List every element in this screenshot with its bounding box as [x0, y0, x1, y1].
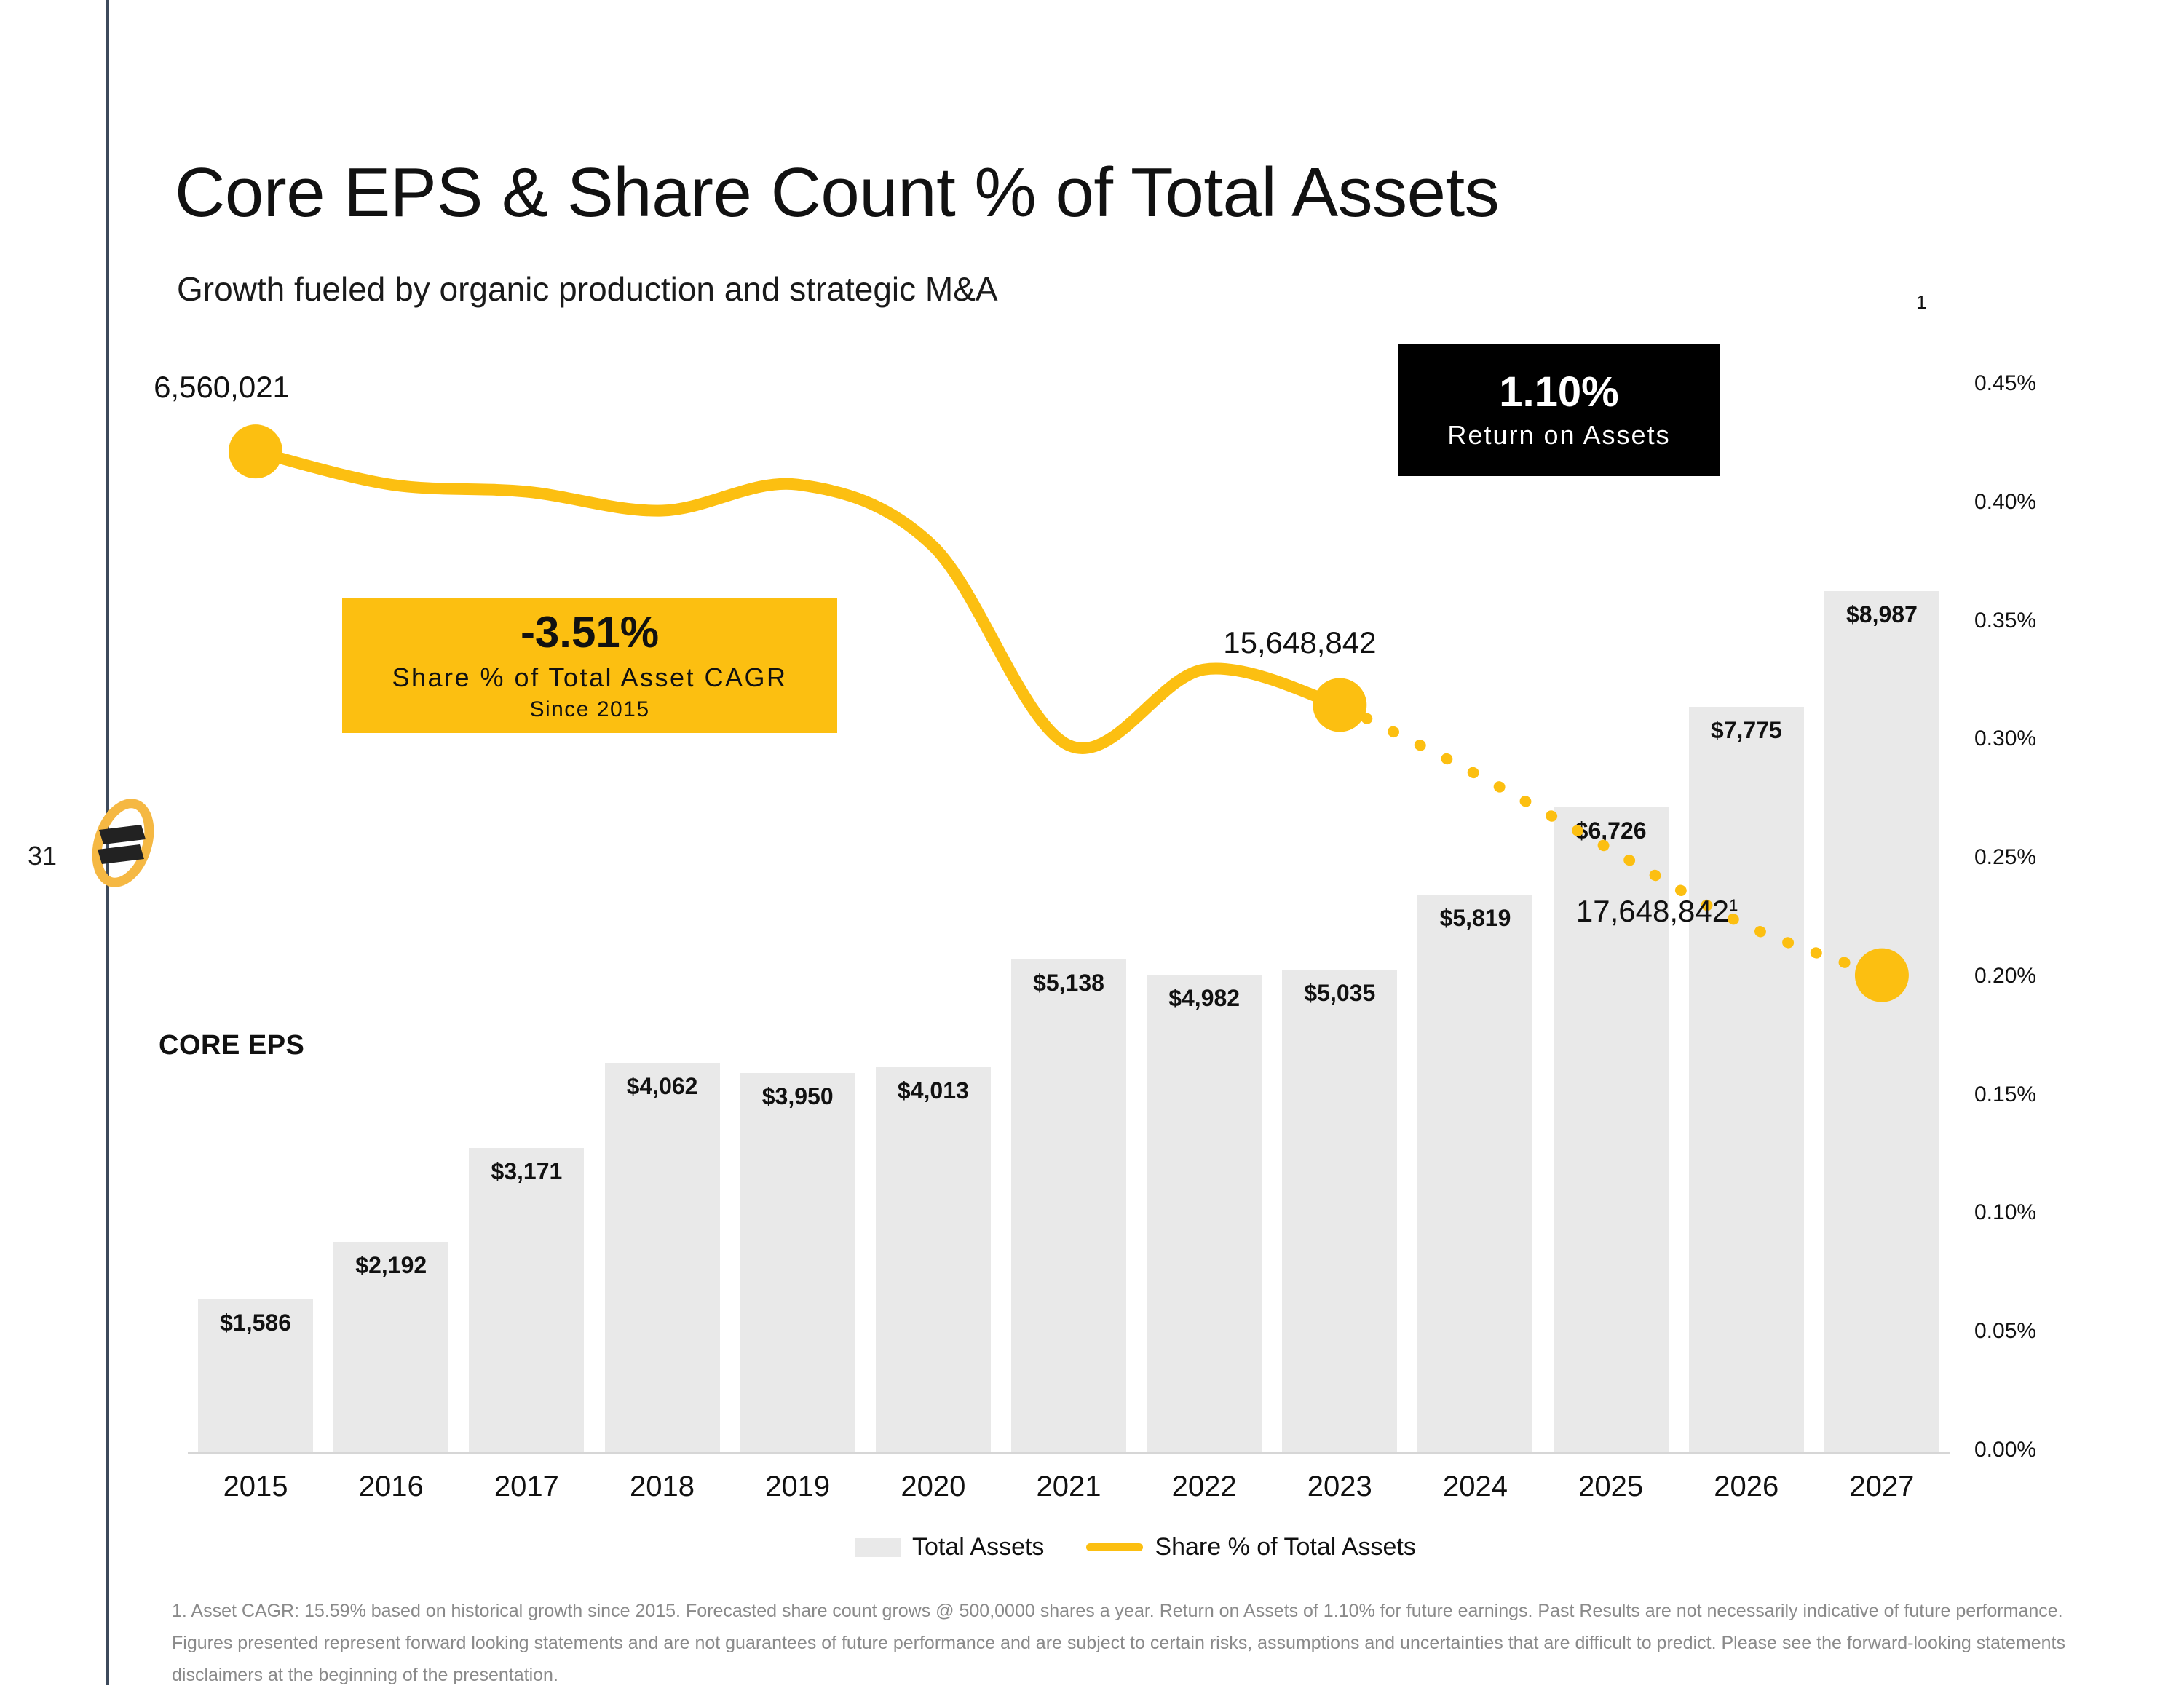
bar-value-label-2023: $5,035 [1259, 980, 1420, 1007]
y-axis-right-tick-0.10%: 0.10% [1974, 1200, 2105, 1225]
bar-value-label-2016: $2,192 [311, 1252, 471, 1279]
y-axis-right-tick-0.20%: 0.20% [1974, 964, 2105, 989]
x-axis-label-2022: 2022 [1131, 1470, 1277, 1503]
bar-2023 [1282, 970, 1397, 1452]
slide-root: 31 Core EPS & Share Count % of Total Ass… [0, 0, 2184, 1685]
bar-value-label-2015: $1,586 [175, 1310, 336, 1336]
x-axis-label-2025: 2025 [1538, 1470, 1684, 1503]
x-axis-label-2026: 2026 [1674, 1470, 1819, 1503]
y-axis-right-tick-0.45%: 0.45% [1974, 371, 2105, 396]
footnote-marker-superscript: 1 [1916, 291, 1926, 314]
roa-label: Return on Assets [1447, 420, 1670, 451]
x-axis-label-2018: 2018 [590, 1470, 735, 1503]
line-point-label-2023: 15,648,842 [1223, 625, 1376, 660]
company-logo-icon [82, 797, 162, 892]
x-axis-label-2016: 2016 [318, 1470, 464, 1503]
x-axis-label-2019: 2019 [725, 1470, 871, 1503]
legend-swatch-icon [855, 1538, 901, 1557]
y-axis-right-tick-0.40%: 0.40% [1974, 490, 2105, 515]
cagr-sublabel: Since 2015 [529, 697, 649, 722]
bar-2024 [1417, 895, 1532, 1452]
bar-2021 [1011, 959, 1126, 1452]
bar-2020 [876, 1067, 991, 1452]
share-line-marker-2015 [229, 424, 282, 478]
page-subtitle: Growth fueled by organic production and … [177, 269, 998, 309]
bar-2017 [469, 1148, 584, 1452]
line-point-label-2015: 6,560,021 [154, 370, 290, 405]
bar-value-label-2024: $5,819 [1395, 905, 1555, 932]
x-axis-label-2024: 2024 [1402, 1470, 1548, 1503]
cagr-label: Share % of Total Asset CAGR [392, 662, 787, 693]
x-axis-label-2023: 2023 [1267, 1470, 1412, 1503]
core-eps-axis-title: CORE EPS [159, 1030, 304, 1061]
chart-legend: Total Assets Share % of Total Assets [855, 1533, 1416, 1561]
bar-value-label-2027: $8,987 [1802, 601, 1962, 628]
roa-value: 1.10% [1499, 369, 1618, 416]
legend-item-total-assets: Total Assets [855, 1533, 1044, 1561]
y-axis-right-tick-0.15%: 0.15% [1974, 1082, 2105, 1107]
bar-value-label-2026: $7,775 [1666, 717, 1827, 744]
legend-label-total-assets: Total Assets [912, 1533, 1044, 1561]
bar-2022 [1147, 975, 1262, 1452]
x-axis-label-2015: 2015 [183, 1470, 328, 1503]
y-axis-right-tick-0.25%: 0.25% [1974, 845, 2105, 870]
y-axis-right-tick-0.00%: 0.00% [1974, 1438, 2105, 1462]
bar-value-label-2025: $6,726 [1531, 817, 1691, 844]
bar-2027 [1824, 591, 1939, 1452]
legend-item-share-percent: Share % of Total Assets [1086, 1533, 1415, 1561]
y-axis-right-tick-0.35%: 0.35% [1974, 609, 2105, 633]
bar-value-label-2017: $3,171 [446, 1158, 606, 1185]
x-axis-label-2027: 2027 [1809, 1470, 1955, 1503]
x-axis-label-2020: 2020 [860, 1470, 1006, 1503]
footnote-text: 1. Asset CAGR: 15.59% based on historica… [172, 1596, 2079, 1691]
legend-line-icon [1086, 1543, 1143, 1551]
x-axis-line [188, 1452, 1950, 1454]
share-line-marker-2023 [1313, 678, 1366, 732]
bar-2019 [740, 1073, 855, 1452]
bar-value-label-2020: $4,013 [853, 1077, 1013, 1104]
cagr-value: -3.51% [521, 609, 659, 655]
bar-2026 [1689, 707, 1804, 1452]
x-axis-label-2021: 2021 [996, 1470, 1142, 1503]
page-number: 31 [28, 841, 57, 871]
legend-label-share-percent: Share % of Total Assets [1155, 1533, 1415, 1561]
share-cagr-callout: -3.51% Share % of Total Asset CAGR Since… [342, 598, 837, 733]
y-axis-right-tick-0.05%: 0.05% [1974, 1319, 2105, 1344]
point-label-superscript: 1 [1729, 896, 1738, 914]
x-axis-label-2017: 2017 [454, 1470, 599, 1503]
y-axis-right-tick-0.30%: 0.30% [1974, 726, 2105, 751]
page-title: Core EPS & Share Count % of Total Assets [175, 153, 1499, 233]
line-point-label-2027: 17,648,8421 [1576, 894, 1738, 929]
return-on-assets-callout: 1.10% Return on Assets [1398, 344, 1720, 476]
bar-2018 [605, 1063, 720, 1452]
